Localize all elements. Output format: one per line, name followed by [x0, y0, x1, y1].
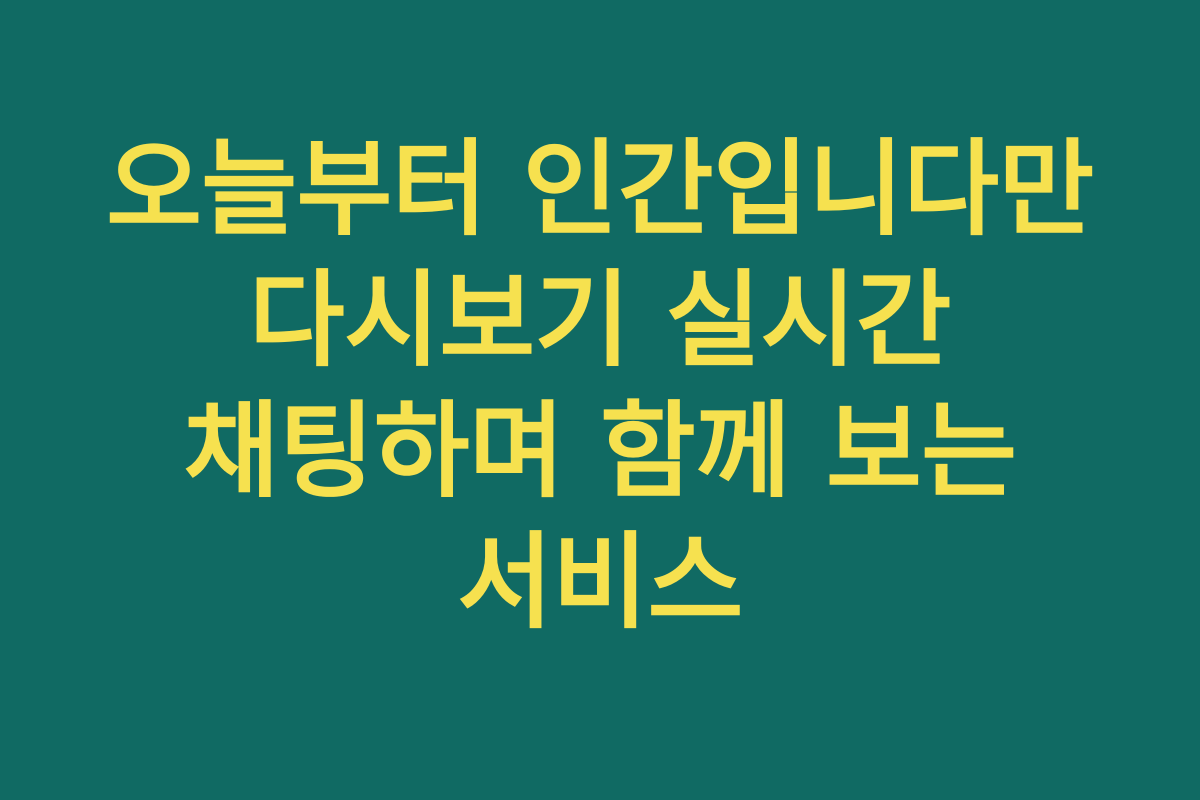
- banner-headline: 오늘부터 인간입니다만 다시보기 실시간 채팅하며 함께 보는 서비스: [100, 124, 1100, 648]
- banner-canvas: 오늘부터 인간입니다만 다시보기 실시간 채팅하며 함께 보는 서비스: [0, 0, 1200, 800]
